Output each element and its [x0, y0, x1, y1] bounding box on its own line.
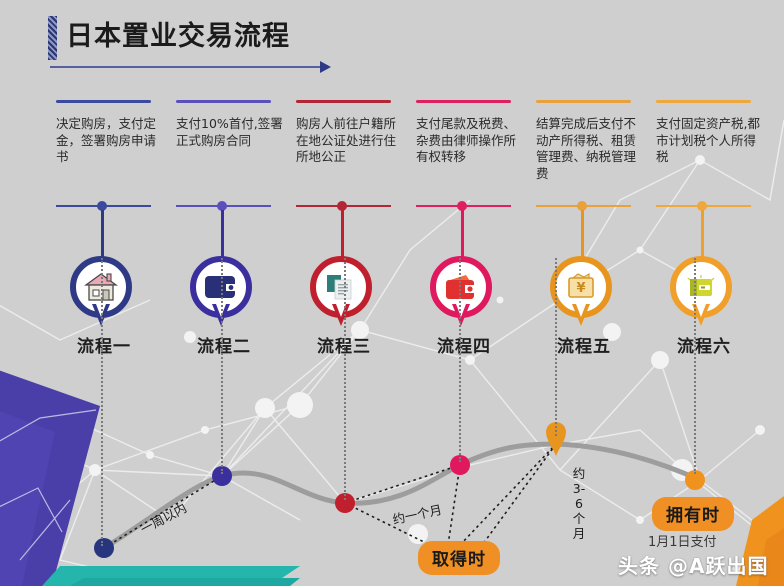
dropper-line-6 — [694, 258, 696, 474]
step-label: 流程五 — [528, 332, 640, 357]
green-card-wallet-icon — [670, 256, 732, 318]
step-top-rule — [416, 100, 511, 103]
step-stem — [461, 210, 464, 258]
step-label: 流程四 — [408, 332, 520, 357]
dropper-line-2 — [221, 258, 223, 474]
svg-text:¥: ¥ — [576, 281, 585, 296]
dropper-line-5 — [555, 258, 557, 436]
timeline-dot-1 — [94, 538, 114, 558]
step-top-rule — [176, 100, 271, 103]
watermark: 头条 @A跃出国 — [618, 550, 768, 579]
title-underline — [50, 66, 320, 68]
documents-icon — [310, 256, 372, 318]
page-title: 日本置业交易流程 — [48, 16, 368, 68]
step-label: 流程六 — [648, 332, 760, 357]
step-label: 流程二 — [168, 332, 280, 357]
step-description: 购房人前往户籍所在地公证处进行住所地公正 — [296, 116, 404, 166]
badge-acquire[interactable]: 取得时 — [418, 541, 500, 575]
step-top-rule — [656, 100, 751, 103]
step-stem — [701, 210, 704, 258]
infographic-canvas: 日本置业交易流程 决定购房，支付定金，签署购房申请书 — [0, 0, 784, 586]
red-wallet-icon — [430, 256, 492, 318]
timeline-label-3: 约3-6个月 — [570, 466, 588, 541]
title-text: 日本置业交易流程 — [66, 15, 290, 59]
step-description: 支付10%首付,签署正式购房合同 — [176, 116, 284, 149]
step-top-rule — [536, 100, 631, 103]
title-accent-bar — [48, 16, 57, 60]
badge-own[interactable]: 拥有时 — [652, 497, 734, 531]
step-description: 支付固定资产税,都市计划税个人所得税 — [656, 116, 764, 166]
step-pin-marker[interactable] — [310, 256, 372, 318]
step-top-rule — [56, 100, 151, 103]
payment-note: 1月1日支付 — [648, 531, 717, 550]
title-arrow-icon — [320, 61, 331, 73]
step-stem — [341, 210, 344, 258]
dropper-line-4 — [459, 258, 461, 462]
step-description: 决定购房，支付定金，签署购房申请书 — [56, 116, 164, 166]
step-label: 流程一 — [48, 332, 160, 357]
step-pin-marker[interactable]: ¥ — [550, 256, 612, 318]
step-description: 支付尾款及税费、杂费由律师操作所有权转移 — [416, 116, 524, 166]
dropper-line-3 — [344, 258, 346, 500]
step-stem — [221, 210, 224, 258]
step-pin-marker[interactable] — [670, 256, 732, 318]
dropper-line-1 — [101, 258, 103, 546]
step-top-rule — [296, 100, 391, 103]
step-stem — [581, 210, 584, 258]
money-bag-yen-icon: ¥ — [550, 256, 612, 318]
step-description: 结算完成后支付不动产所得税、租赁管理费、纳税管理费 — [536, 116, 644, 182]
step-pin-marker[interactable] — [430, 256, 492, 318]
step-stem — [101, 210, 104, 258]
